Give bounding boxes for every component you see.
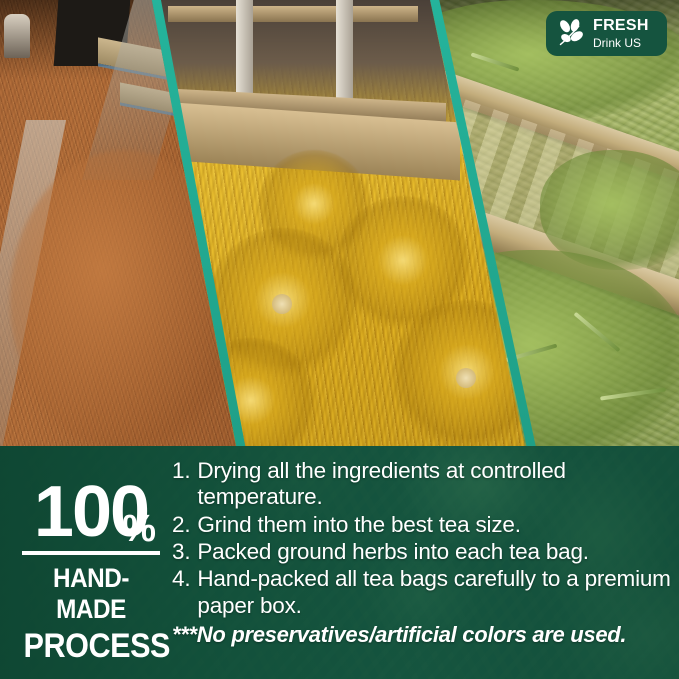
badge-line-1: HAND-MADE bbox=[24, 563, 159, 625]
badge-divider-rule bbox=[22, 551, 160, 555]
wood-beam bbox=[168, 6, 418, 22]
photo-band: FRESH Drink US bbox=[0, 0, 679, 446]
handmade-badge: 100 % HAND-MADE PROCESS bbox=[16, 482, 166, 666]
badge-percent-sign: % bbox=[122, 514, 154, 546]
brand-logo-text: FRESH Drink US bbox=[593, 18, 649, 49]
step-text: Grind them into the best tea size. bbox=[197, 512, 673, 538]
bundle-knot bbox=[272, 294, 292, 314]
leaf-cluster-icon bbox=[555, 18, 586, 49]
badge-line-2: PROCESS bbox=[24, 627, 159, 666]
badge-number-wrap: 100 % bbox=[34, 482, 148, 542]
process-steps-list: 1. Drying all the ingredients at control… bbox=[172, 458, 673, 648]
step-number: 1. bbox=[172, 458, 190, 484]
process-step: 2. Grind them into the best tea size. bbox=[172, 512, 673, 538]
worker-figure bbox=[4, 14, 30, 58]
process-info-band: 100 % HAND-MADE PROCESS 1. Drying all th… bbox=[0, 446, 679, 679]
step-number: 4. bbox=[172, 566, 190, 592]
brand-logo: FRESH Drink US bbox=[546, 11, 667, 56]
product-infographic: FRESH Drink US 100 % HAND-MADE PROCESS 1… bbox=[0, 0, 679, 679]
process-step: 4. Hand-packed all tea bags carefully to… bbox=[172, 566, 673, 619]
step-text: Drying all the ingredients at controlled… bbox=[197, 458, 673, 511]
step-text: Hand-packed all tea bags carefully to a … bbox=[197, 566, 673, 619]
brand-subtitle: Drink US bbox=[593, 37, 649, 49]
process-step: 3. Packed ground herbs into each tea bag… bbox=[172, 539, 673, 565]
process-step: 1. Drying all the ingredients at control… bbox=[172, 458, 673, 511]
no-preservatives-note: ***No preservatives/artificial colors ar… bbox=[172, 622, 673, 648]
bundle-knot bbox=[456, 368, 476, 388]
step-text: Packed ground herbs into each tea bag. bbox=[197, 539, 673, 565]
step-number: 2. bbox=[172, 512, 190, 538]
brand-name: FRESH bbox=[593, 18, 649, 34]
step-number: 3. bbox=[172, 539, 190, 565]
